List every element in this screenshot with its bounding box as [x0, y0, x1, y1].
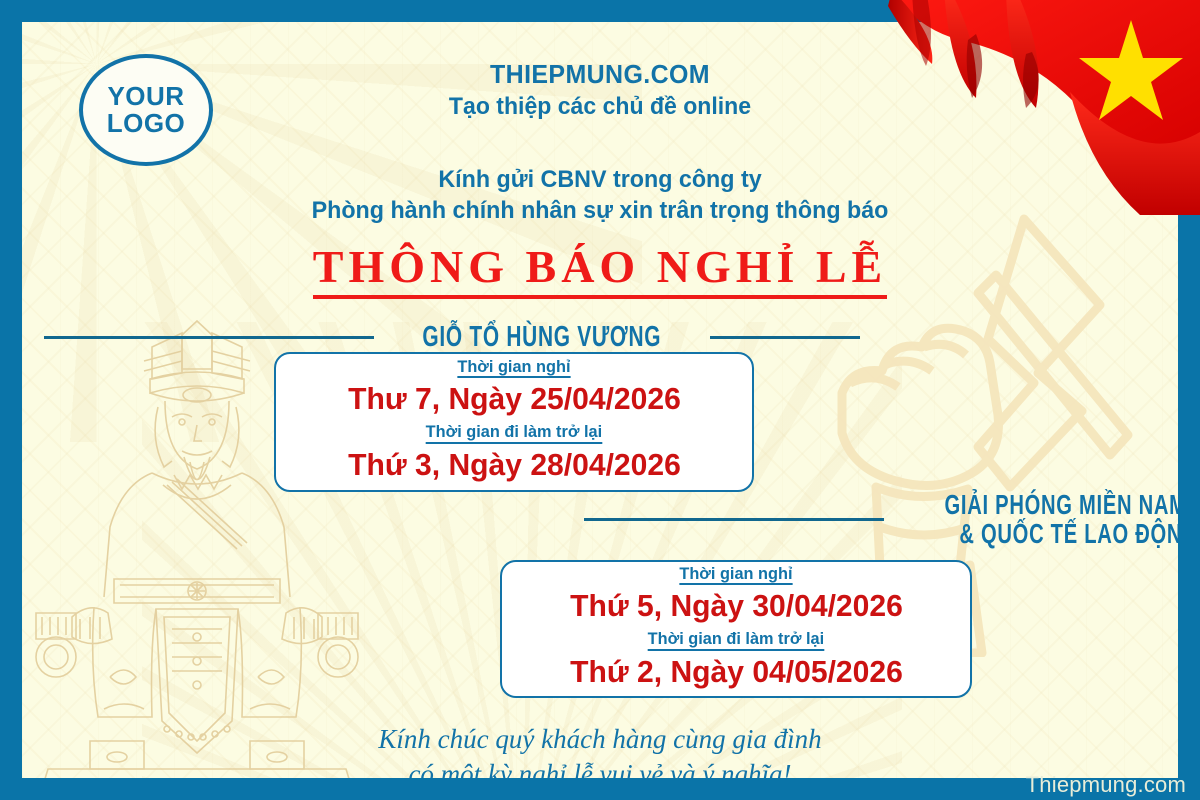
section-2-heading-line-1: GIẢI PHÓNG MIỀN NAM 30.4	[945, 490, 1178, 519]
back-label-2: Thời gian đi làm trở lại	[648, 629, 824, 651]
section-2-heading-line-2: & QUỐC TẾ LAO ĐỘNG 1.5	[945, 519, 1178, 548]
section-rule-right	[710, 336, 860, 339]
wish-line-2: có một kỳ nghỉ lễ vui vẻ và ý nghĩa!	[22, 757, 1178, 778]
off-value-2: Thứ 5, Ngày 30/04/2026	[570, 588, 903, 625]
back-value-2: Thứ 2, Ngày 04/05/2026	[570, 654, 903, 691]
back-value-1: Thứ 3, Ngày 28/04/2026	[348, 447, 681, 484]
off-label-1: Thời gian nghỉ	[457, 357, 570, 379]
closing-wish: Kính chúc quý khách hàng cùng gia đình c…	[22, 722, 1178, 778]
back-label-1: Thời gian đi làm trở lại	[426, 422, 602, 444]
holiday-box-2: Thời gian nghỉ Thứ 5, Ngày 30/04/2026 Th…	[500, 560, 972, 698]
off-label-2: Thời gian nghỉ	[679, 564, 792, 586]
off-value-1: Thư 7, Ngày 25/04/2026	[348, 381, 681, 418]
page-title-text: THÔNG BÁO NGHỈ LỄ	[313, 244, 887, 299]
site-watermark: Thiepmung.com	[1026, 772, 1186, 798]
vietnam-flag-icon	[840, 0, 1200, 215]
section-2-heading: GIẢI PHÓNG MIỀN NAM 30.4 & QUỐC TẾ LAO Đ…	[942, 490, 1178, 548]
section-1-heading: GIỖ TỔ HÙNG VƯƠNG	[421, 322, 663, 352]
page-title: THÔNG BÁO NGHỈ LỄ	[22, 244, 1178, 299]
wish-line-1: Kính chúc quý khách hàng cùng gia đình	[22, 722, 1178, 757]
section-header-2: GIẢI PHÓNG MIỀN NAM 30.4 & QUỐC TẾ LAO Đ…	[44, 490, 1156, 548]
section-header-1: GIỖ TỔ HÙNG VƯƠNG	[44, 322, 1156, 352]
section-rule-left	[44, 336, 374, 339]
holiday-box-1: Thời gian nghỉ Thư 7, Ngày 25/04/2026 Th…	[274, 352, 754, 492]
section-2-rule-left	[584, 518, 884, 521]
holiday-announcement-card: YOUR LOGO THIEPMUNG.COM Tạo thiệp các ch…	[0, 0, 1200, 800]
